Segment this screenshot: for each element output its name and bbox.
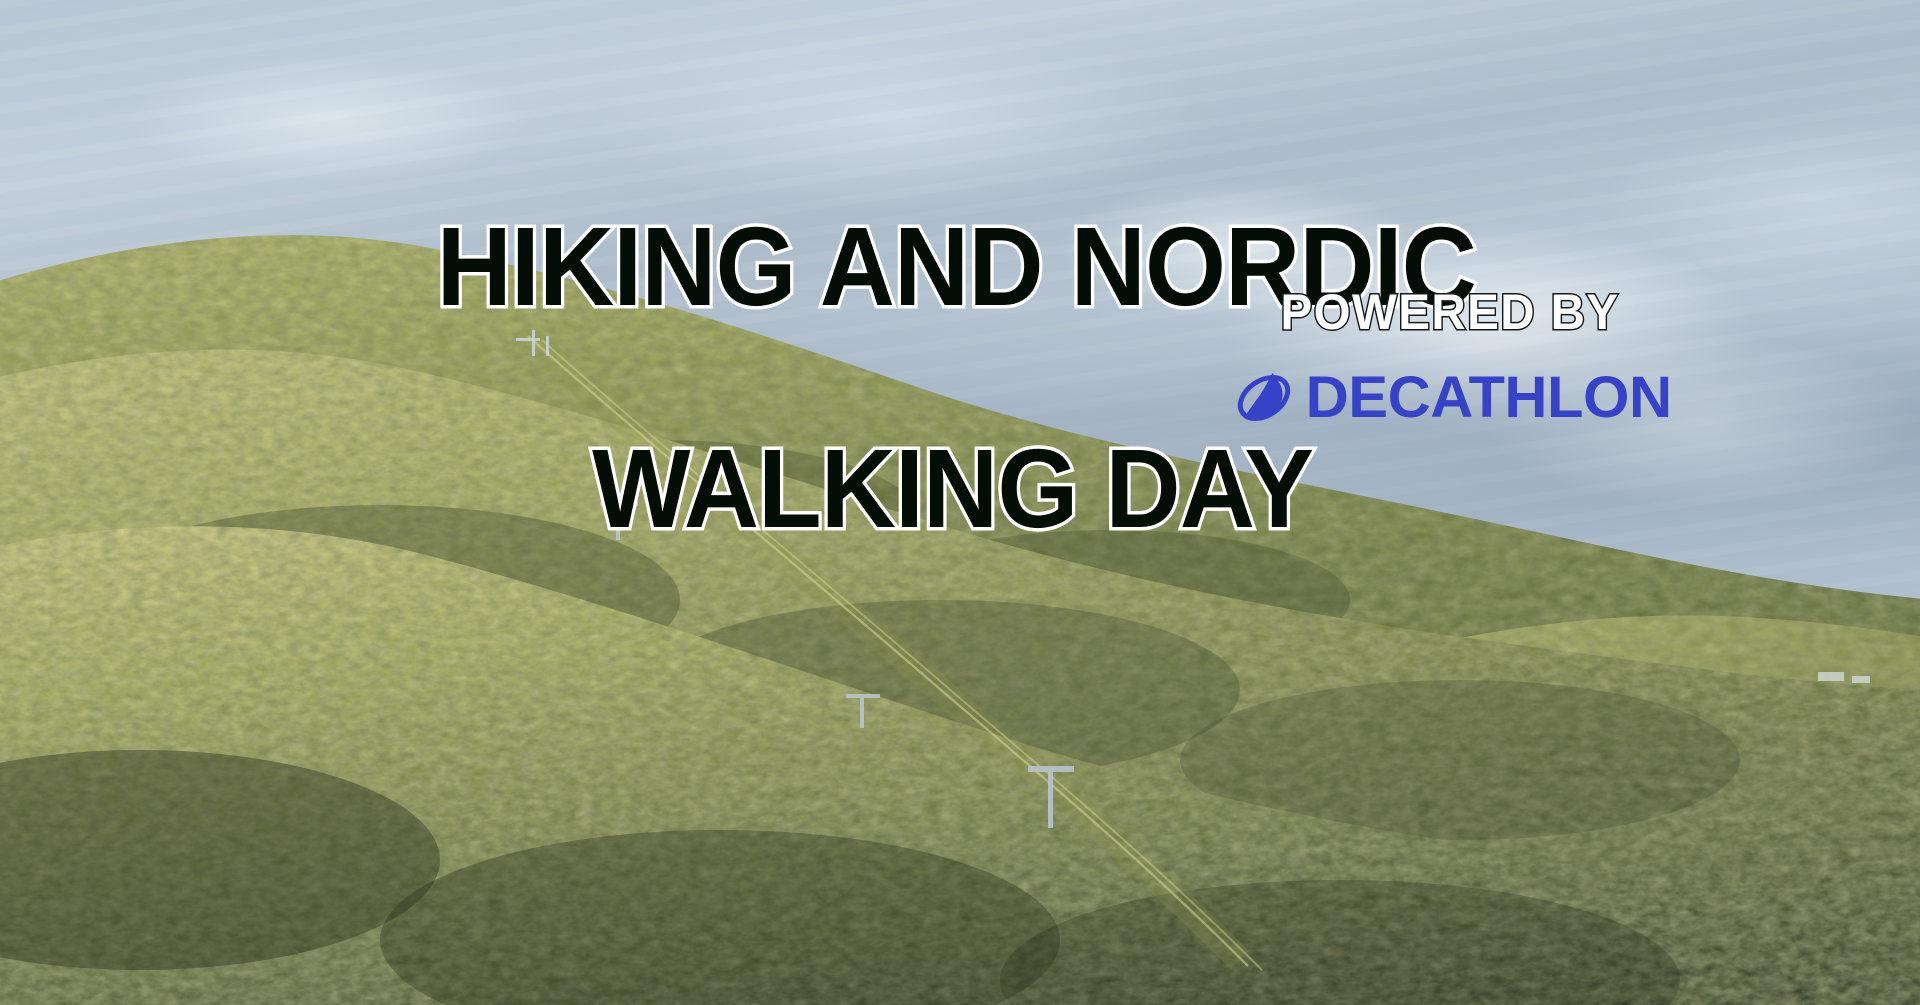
decathlon-leaf-icon (1233, 367, 1295, 429)
sponsor-logo[interactable]: DECATHLON (1160, 358, 1740, 438)
powered-by-label: POWERED BY (1175, 283, 1726, 341)
title-line-2: WALKING DAY (220, 434, 1686, 545)
event-banner: HIKING AND NORDIC WALKING DAY POWERED BY… (0, 0, 1920, 1005)
decathlon-wordmark: DECATHLON (1306, 369, 1672, 427)
